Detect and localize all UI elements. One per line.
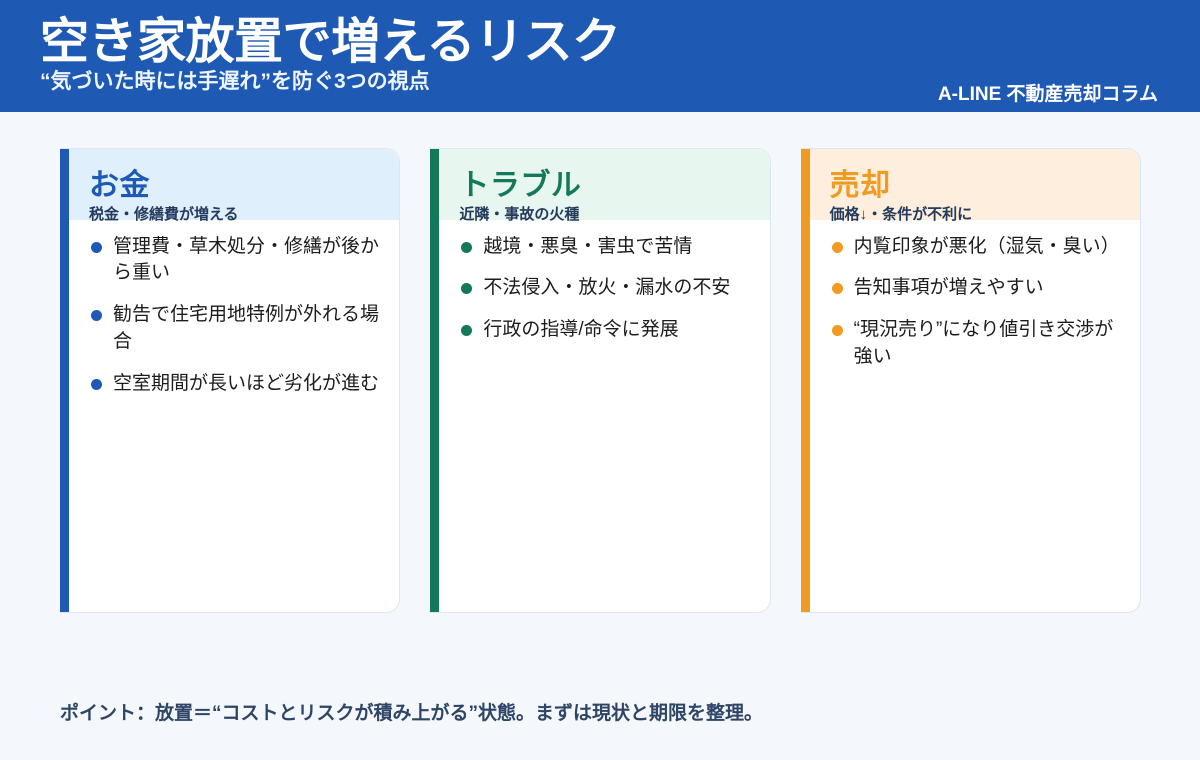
card-bullet-list: 管理費・草木処分・修繕が後から重い 勧告で住宅用地特例が外れる場合 空室期間が長… <box>89 234 381 399</box>
list-item: 内覧印象が悪化（湿気・臭い） <box>830 234 1122 261</box>
bullet-dot-icon <box>832 242 843 253</box>
page-header: 空き家放置で増えるリスク “気づいた時には手遅れ”を防ぐ3つの視点 A-LINE… <box>0 0 1200 112</box>
list-item: 越境・悪臭・害虫で苦情 <box>459 234 751 261</box>
list-item: “現況売り”になり値引き交渉が強い <box>830 317 1122 371</box>
list-item: 行政の指導/命令に発展 <box>459 317 751 344</box>
bullet-dot-icon <box>832 283 843 294</box>
bullet-dot-icon <box>461 325 472 336</box>
list-item: 管理費・草木処分・修繕が後から重い <box>89 234 381 288</box>
bullet-dot-icon <box>461 283 472 294</box>
page-subtitle: “気づいた時には手遅れ”を防ぐ3つの視点 <box>40 70 621 93</box>
bullet-dot-icon <box>461 242 472 253</box>
card-content: トラブル 近隣・事故の火種 越境・悪臭・害虫で苦情 不法侵入・放火・漏水の不安 … <box>430 149 769 344</box>
list-item: 不法侵入・放火・漏水の不安 <box>459 275 751 302</box>
card-bullet-list: 越境・悪臭・害虫で苦情 不法侵入・放火・漏水の不安 行政の指導/命令に発展 <box>459 234 751 345</box>
list-item-label: 不法侵入・放火・漏水の不安 <box>483 277 730 298</box>
list-item-label: 空室期間が長いほど劣化が進む <box>113 373 379 394</box>
card-subtitle: 税金・修繕費が増える <box>89 207 381 224</box>
bullet-dot-icon <box>91 310 102 321</box>
list-item-label: 告知事項が増えやすい <box>854 277 1044 298</box>
list-item: 勧告で住宅用地特例が外れる場合 <box>89 302 381 356</box>
card-title: お金 <box>89 171 381 201</box>
card-title: トラブル <box>459 171 751 201</box>
bullet-dot-icon <box>91 379 102 390</box>
footer-note: ポイント：放置＝“コストとリスクが積み上がる”状態。まずは現状と期限を整理。 <box>60 698 763 725</box>
card-bullet-list: 内覧印象が悪化（湿気・臭い） 告知事項が増えやすい “現況売り”になり値引き交渉… <box>830 234 1122 372</box>
list-item-label: 行政の指導/命令に発展 <box>483 319 678 340</box>
page-title: 空き家放置で増えるリスク <box>40 18 621 68</box>
card-subtitle: 近隣・事故の火種 <box>459 207 751 224</box>
bullet-dot-icon <box>91 242 102 253</box>
list-item-label: 越境・悪臭・害虫で苦情 <box>483 236 692 257</box>
header-text-group: 空き家放置で増えるリスク “気づいた時には手遅れ”を防ぐ3つの視点 <box>40 18 621 93</box>
card-subtitle: 価格↓・条件が不利に <box>830 207 1122 224</box>
bullet-dot-icon <box>832 325 843 336</box>
card-content: 売却 価格↓・条件が不利に 内覧印象が悪化（湿気・臭い） 告知事項が増えやすい … <box>801 149 1140 371</box>
card-content: お金 税金・修繕費が増える 管理費・草木処分・修繕が後から重い 勧告で住宅用地特… <box>60 149 399 398</box>
list-item: 空室期間が長いほど劣化が進む <box>89 371 381 398</box>
brand-label: A-LINE 不動産売却コラム <box>938 79 1158 106</box>
list-item-label: 勧告で住宅用地特例が外れる場合 <box>113 304 379 352</box>
list-item-label: “現況売り”になり値引き交渉が強い <box>854 319 1114 367</box>
list-item: 告知事項が増えやすい <box>830 275 1122 302</box>
list-item-label: 管理費・草木処分・修繕が後から重い <box>113 236 379 284</box>
risk-card-trouble: トラブル 近隣・事故の火種 越境・悪臭・害虫で苦情 不法侵入・放火・漏水の不安 … <box>430 148 770 613</box>
card-title: 売却 <box>830 171 1122 201</box>
risk-card-money: お金 税金・修繕費が増える 管理費・草木処分・修繕が後から重い 勧告で住宅用地特… <box>60 148 400 613</box>
risk-card-group: お金 税金・修繕費が増える 管理費・草木処分・修繕が後から重い 勧告で住宅用地特… <box>60 148 1141 613</box>
list-item-label: 内覧印象が悪化（湿気・臭い） <box>854 236 1120 257</box>
risk-card-sale: 売却 価格↓・条件が不利に 内覧印象が悪化（湿気・臭い） 告知事項が増えやすい … <box>801 148 1141 613</box>
